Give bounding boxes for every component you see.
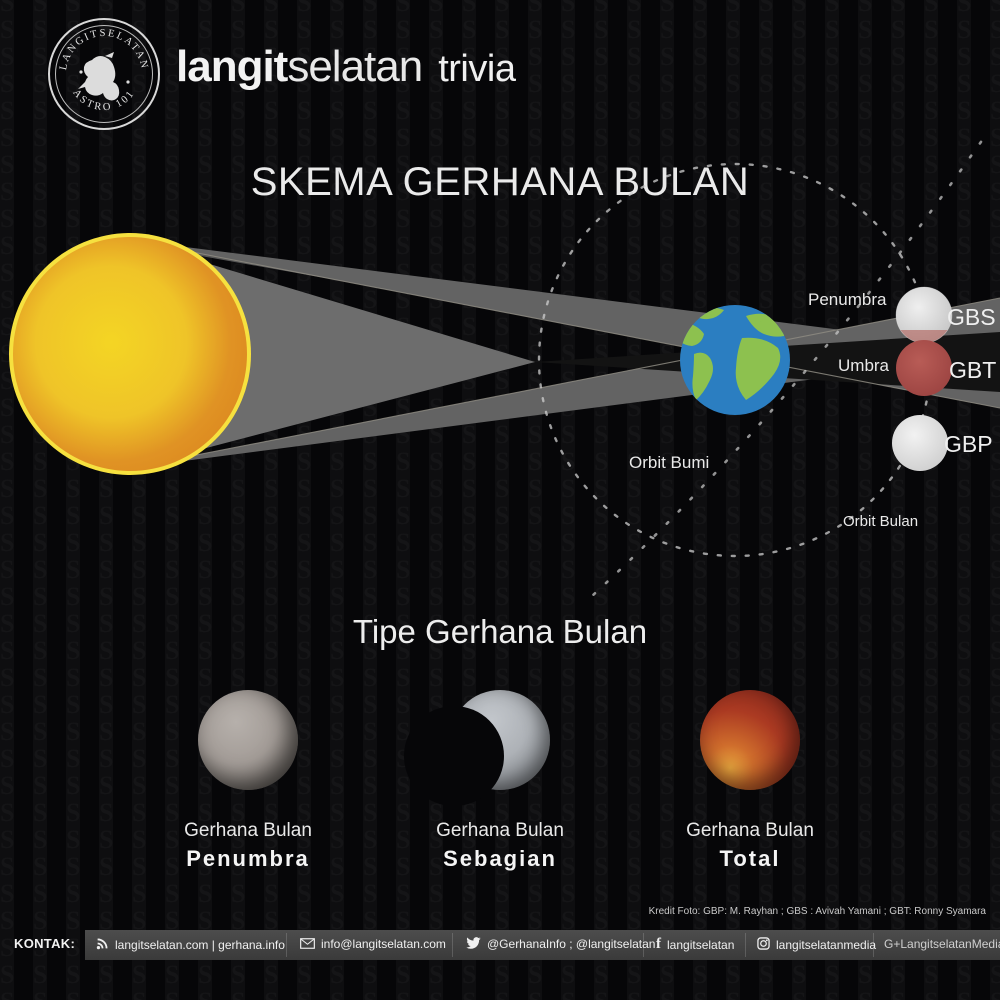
facebook-icon: f [656,937,661,952]
footer-contact-bar: KONTAK: langitselatan.com | gerhana.info… [0,930,1000,960]
type-card-total: Gerhana Bulan Total [630,690,870,873]
moon-total [700,690,800,790]
brand-light: selatan [287,42,422,91]
type-name-partial: Sebagian [380,844,620,874]
photo-credit: Kredit Foto: GBP: M. Rayhan ; GBS : Aviv… [649,906,986,917]
types-section-title: Tipe Gerhana Bulan [0,613,1000,651]
brand-suffix: trivia [438,48,515,90]
type-caption-penumbral: Gerhana Bulan [184,820,312,841]
label-orbit-bumi: Orbit Bumi [629,453,709,473]
logo-artwork-icon: LANGITSELATAN ASTRO 101 [50,20,158,128]
label-gbt: GBT [949,357,996,384]
envelope-icon [300,938,315,951]
infographic-page: SSSSSSSSSSSSSSSSSSSSSSSSSSSSSSSSSSSSSSSS… [0,0,1000,1000]
footer-link-twitter-text: @GerhanaInfo ; @langitselatan [487,937,655,951]
footer-link-instagram-text: langitselatanmedia [776,938,876,952]
type-card-partial: Gerhana Bulan Sebagian [380,690,620,873]
footer-link-facebook-text: langitselatan [667,938,734,952]
footer-link-website-text: langitselatan.com | gerhana.info [115,938,285,952]
moon-partial-shadow-bite [404,706,504,806]
type-name-penumbral: Penumbra [128,844,368,874]
kontak-label: KONTAK: [14,936,75,951]
rss-icon [96,937,109,952]
header: LANGITSELATAN ASTRO 101 langitselatantri… [0,0,1000,140]
footer-link-website[interactable]: langitselatan.com | gerhana.info [96,937,285,952]
gbt-moon [896,340,952,396]
label-orbit-bulan: Orbit Bulan [843,513,918,530]
twitter-icon [466,937,481,951]
sun [9,233,251,475]
footer-divider [286,933,287,957]
gbp-moon [892,415,948,471]
footer-divider [745,933,746,957]
type-name-total: Total [630,844,870,874]
brand-wordmark: langitselatantrivia [176,42,515,92]
brand-bold: langit [176,42,287,91]
footer-divider [452,933,453,957]
footer-link-googleplus[interactable]: G+LangitselatanMedia [884,937,1000,951]
footer-link-facebook[interactable]: f langitselatan [656,937,734,952]
label-gbp: GBP [944,431,993,458]
type-caption-partial: Gerhana Bulan [436,820,564,841]
footer-link-instagram[interactable]: langitselatanmedia [757,937,876,952]
moon-penumbral [198,690,298,790]
eclipse-scheme-diagram: Penumbra Umbra Orbit Bumi Orbit Bulan GB… [0,140,1000,600]
footer-link-twitter[interactable]: @GerhanaInfo ; @langitselatan [466,937,655,951]
moon-partial [450,690,550,790]
footer-link-googleplus-text: G+LangitselatanMedia [884,937,1000,951]
label-gbs: GBS [947,304,996,331]
langitselatan-logo: LANGITSELATAN ASTRO 101 [48,18,160,130]
footer-link-email-text: info@langitselatan.com [321,937,446,951]
type-caption-total: Gerhana Bulan [686,820,814,841]
label-penumbra: Penumbra [808,290,886,310]
instagram-icon [757,937,770,952]
type-card-penumbral: Gerhana Bulan Penumbra [128,690,368,873]
label-umbra: Umbra [838,356,889,376]
footer-link-email[interactable]: info@langitselatan.com [300,937,446,951]
